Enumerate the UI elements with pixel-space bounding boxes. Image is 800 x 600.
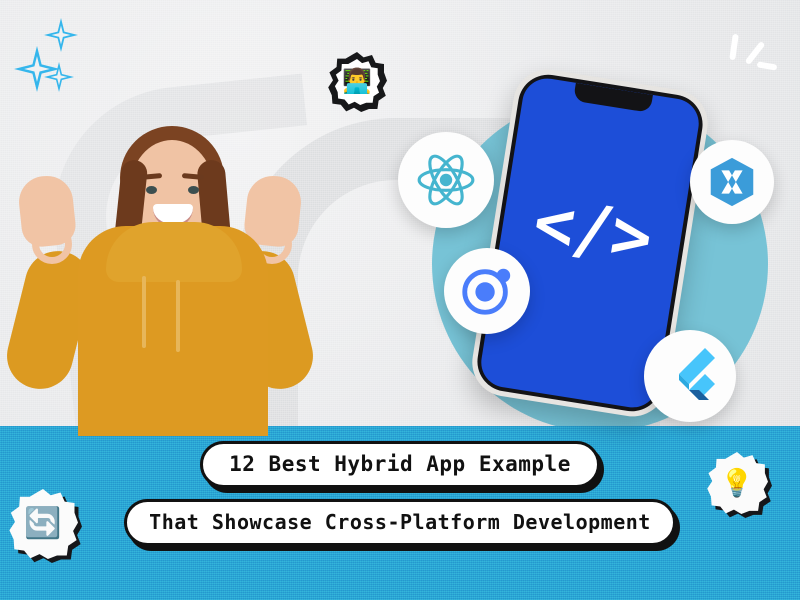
title-block: 12 Best Hybrid App Example That Showcase… bbox=[0, 441, 800, 557]
woman-ok-gesture bbox=[10, 130, 320, 430]
eye-right bbox=[188, 186, 199, 194]
title-pill-line2: That Showcase Cross-Platform Development bbox=[124, 499, 676, 546]
hoodie-collar bbox=[106, 222, 242, 282]
eye-left bbox=[146, 186, 157, 194]
hoodie-drawstring-right bbox=[176, 280, 180, 352]
developer-emoji: 👨‍💻 bbox=[342, 70, 372, 94]
code-brackets-icon: </> bbox=[499, 183, 685, 278]
developer-emoji-badge: 👨‍💻 bbox=[327, 52, 387, 112]
react-logo-badge bbox=[398, 132, 494, 228]
title-pill-line1: 12 Best Hybrid App Example bbox=[200, 441, 600, 488]
hero-graphic: </> bbox=[0, 0, 800, 600]
xamarin-logo-icon bbox=[703, 153, 761, 211]
flutter-logo-icon bbox=[662, 346, 718, 406]
lightbulb-emoji: 💡 bbox=[720, 470, 754, 497]
react-logo-icon bbox=[415, 149, 477, 211]
left-ok-gesture bbox=[32, 224, 72, 264]
flutter-logo-badge bbox=[644, 330, 736, 422]
xamarin-logo-badge bbox=[690, 140, 774, 224]
ionic-logo-icon bbox=[458, 262, 516, 320]
sync-emoji: 🔄 bbox=[24, 509, 61, 539]
ionic-logo-badge bbox=[444, 248, 530, 334]
hoodie-drawstring-left bbox=[142, 276, 146, 348]
